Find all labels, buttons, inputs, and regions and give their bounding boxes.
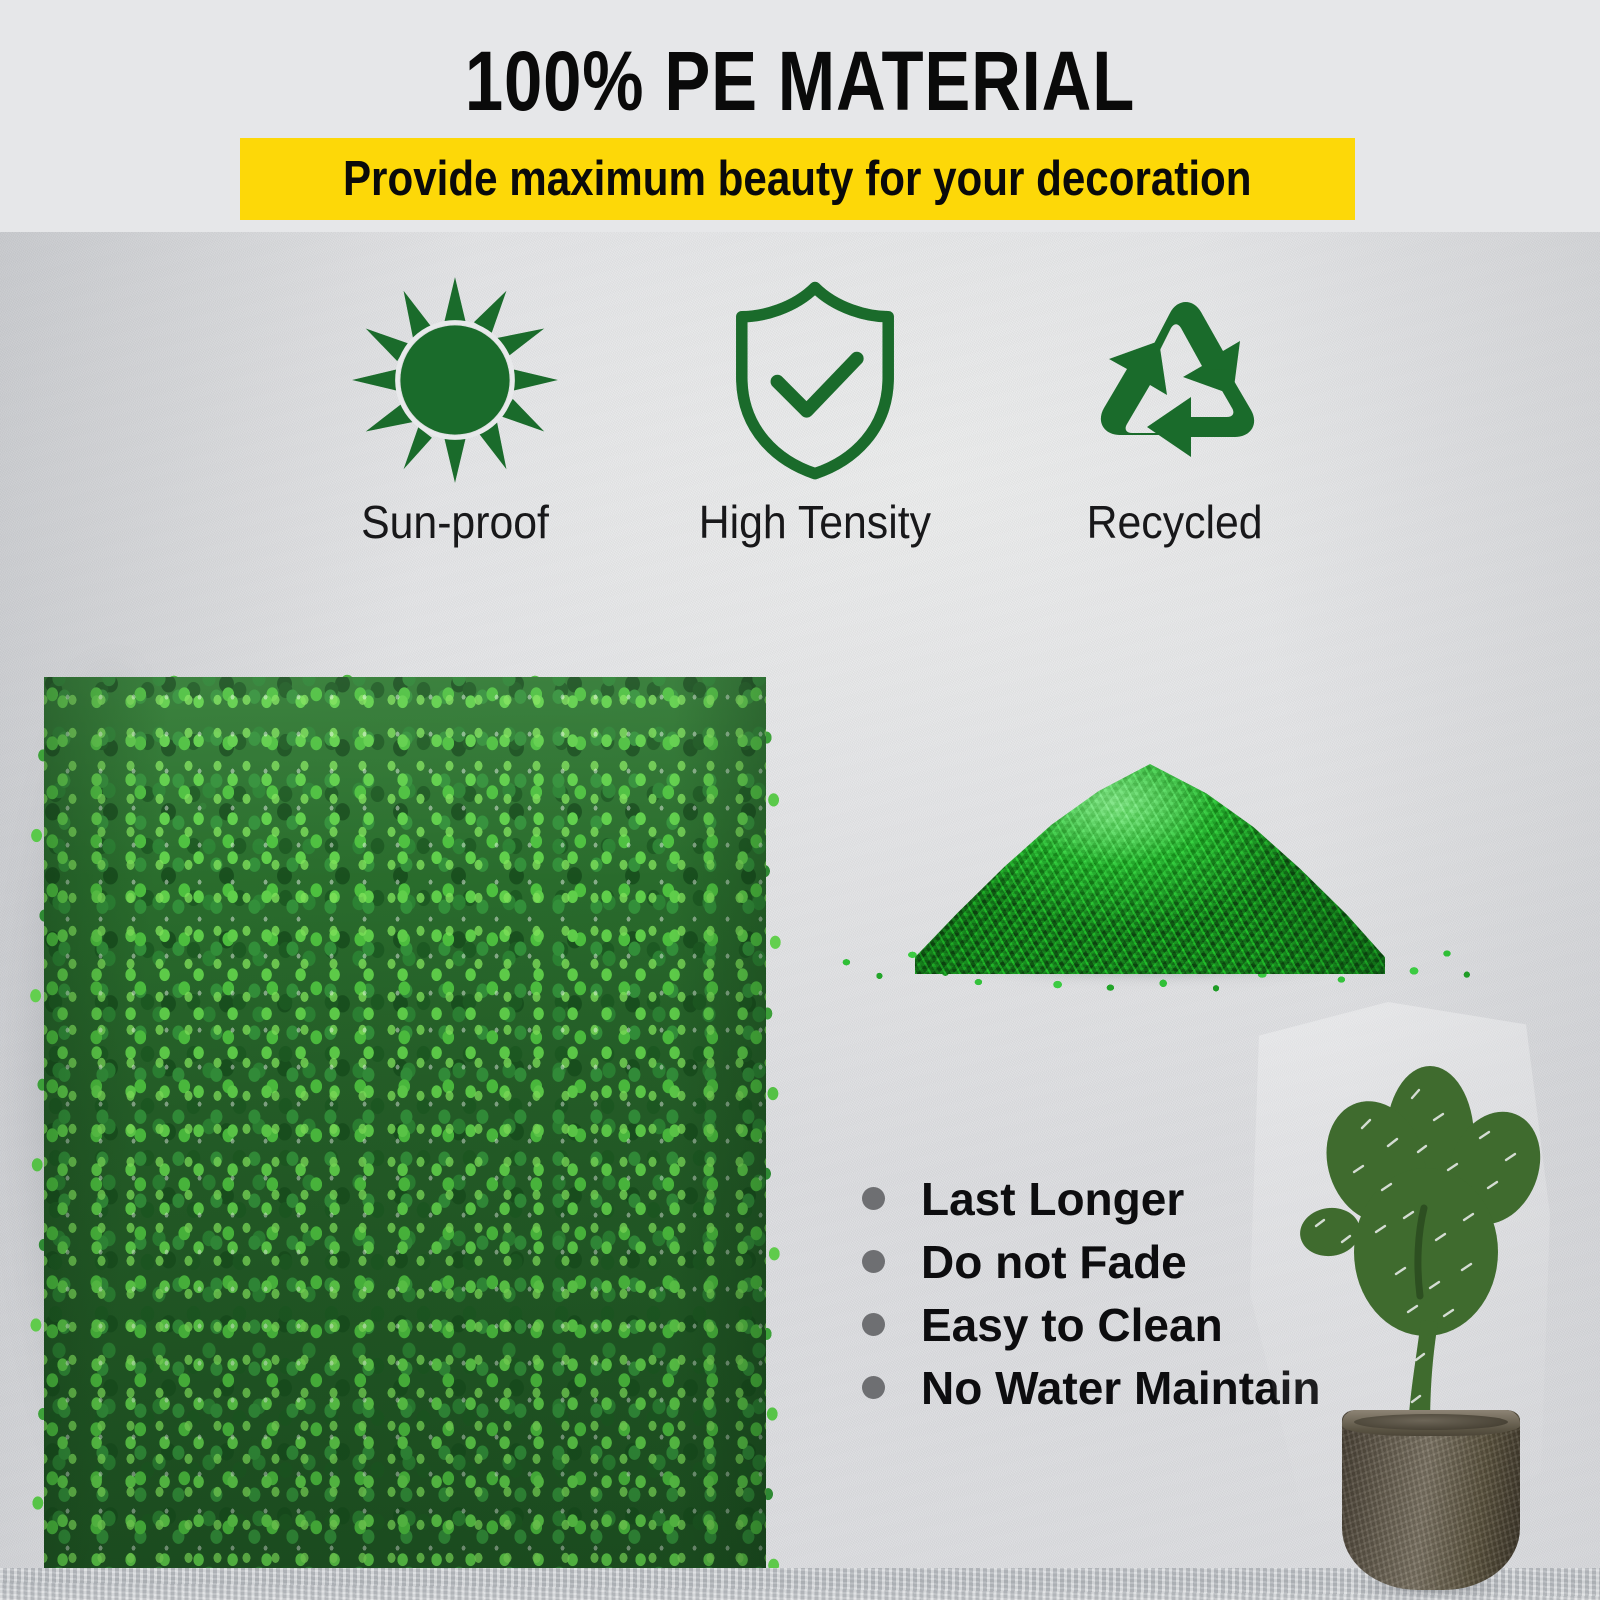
bullet-dot-icon xyxy=(862,1187,885,1210)
pot-rim xyxy=(1342,1410,1520,1436)
potted-cactus xyxy=(1258,1020,1598,1600)
feature-row: Sun-proof High Tensity xyxy=(300,272,1330,602)
pe-pellet-pile xyxy=(820,742,1480,1002)
feature-label: High Tensity xyxy=(699,495,931,549)
feature-label: Recycled xyxy=(1087,495,1263,549)
plant-pot xyxy=(1342,1410,1520,1590)
benefit-text: Do not Fade xyxy=(921,1236,1187,1288)
product-scene: Sun-proof High Tensity xyxy=(0,232,1600,1600)
hedge-panel xyxy=(44,677,766,1600)
hedge-panel-shading xyxy=(44,677,766,1600)
feature-recycled: Recycled xyxy=(1020,272,1330,549)
subheadline-text: Provide maximum beauty for your decorati… xyxy=(343,151,1252,207)
bullet-dot-icon xyxy=(862,1313,885,1336)
sun-icon xyxy=(350,272,560,487)
pot-texture xyxy=(1342,1410,1520,1590)
benefit-text: Easy to Clean xyxy=(921,1299,1223,1351)
subheadline-band: Provide maximum beauty for your decorati… xyxy=(240,138,1355,220)
feature-label: Sun-proof xyxy=(361,495,549,549)
pellet-mound xyxy=(915,764,1385,974)
bullet-dot-icon xyxy=(862,1250,885,1273)
shield-check-icon xyxy=(720,272,910,487)
header-section: 100% PE MATERIAL Provide maximum beauty … xyxy=(0,0,1600,232)
feature-sun-proof: Sun-proof xyxy=(300,272,610,549)
feature-high-tensity: High Tensity xyxy=(660,272,970,549)
page-title: 100% PE MATERIAL xyxy=(144,36,1456,126)
product-banner: 100% PE MATERIAL Provide maximum beauty … xyxy=(0,0,1600,1600)
benefit-text: Last Longer xyxy=(921,1173,1184,1225)
pot-soil xyxy=(1354,1414,1508,1430)
recycle-icon xyxy=(1075,272,1275,487)
bullet-dot-icon xyxy=(862,1376,885,1399)
pellet-mound-shading xyxy=(915,764,1385,974)
